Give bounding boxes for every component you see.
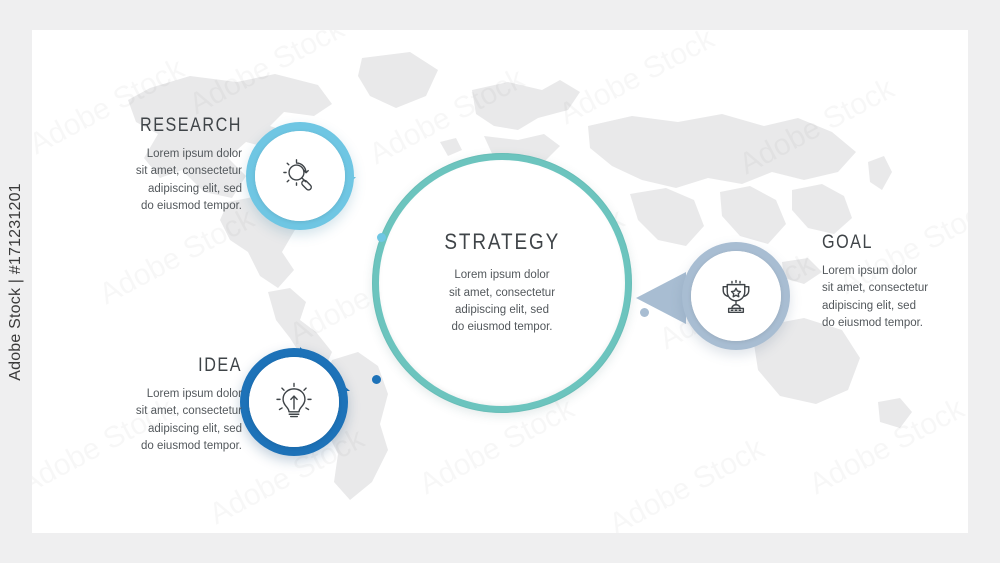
trophy-icon xyxy=(715,275,757,317)
center-title: STRATEGY xyxy=(444,229,560,255)
center-hub-strategy[interactable]: STRATEGY Lorem ipsum dolor sit amet, con… xyxy=(372,153,632,413)
lightbulb-icon xyxy=(273,381,315,423)
connector-dot-research xyxy=(377,233,386,242)
stock-watermark-label: Adobe Stock | #171231201 xyxy=(7,183,25,381)
text-block-idea: IDEA Lorem ipsum dolor sit amet, consect… xyxy=(67,355,242,456)
watermark-tile: Adobe Stock xyxy=(804,392,968,502)
node-inner-idea xyxy=(249,357,339,447)
watermark-tile: Adobe Stock xyxy=(554,30,720,132)
center-content: STRATEGY Lorem ipsum dolor sit amet, con… xyxy=(372,153,632,413)
node-research[interactable] xyxy=(246,122,354,230)
node-goal[interactable] xyxy=(682,242,790,350)
node-title-goal: GOAL xyxy=(822,232,933,254)
node-inner-goal xyxy=(691,251,781,341)
text-block-goal: GOAL Lorem ipsum dolor sit amet, consect… xyxy=(822,232,952,333)
watermark-tile: Adobe Stock xyxy=(734,72,900,182)
watermark-tile: Adobe Stock xyxy=(184,30,350,122)
connector-dot-idea xyxy=(372,375,381,384)
node-pointer-goal xyxy=(636,272,686,324)
center-body: Lorem ipsum dolor sit amet, consectetur … xyxy=(449,267,555,337)
node-body-goal: Lorem ipsum dolor sit amet, consectetur … xyxy=(822,263,952,333)
node-inner-research xyxy=(255,131,345,221)
watermark-tile: Adobe Stock xyxy=(94,202,260,312)
watermark-tile: Adobe Stock xyxy=(604,432,770,533)
node-title-research: RESEARCH xyxy=(93,115,242,137)
node-idea[interactable] xyxy=(240,348,348,456)
node-body-idea: Lorem ipsum dolor sit amet, consectetur … xyxy=(67,386,242,456)
node-title-idea: IDEA xyxy=(93,355,242,377)
node-body-research: Lorem ipsum dolor sit amet, consectetur … xyxy=(67,146,242,216)
text-block-research: RESEARCH Lorem ipsum dolor sit amet, con… xyxy=(67,115,242,216)
infographic-canvas: Adobe Stock Adobe Stock Adobe Stock Adob… xyxy=(32,30,968,533)
stock-watermark-rail: Adobe Stock | #171231201 xyxy=(0,0,32,563)
magnifier-icon xyxy=(279,155,321,197)
